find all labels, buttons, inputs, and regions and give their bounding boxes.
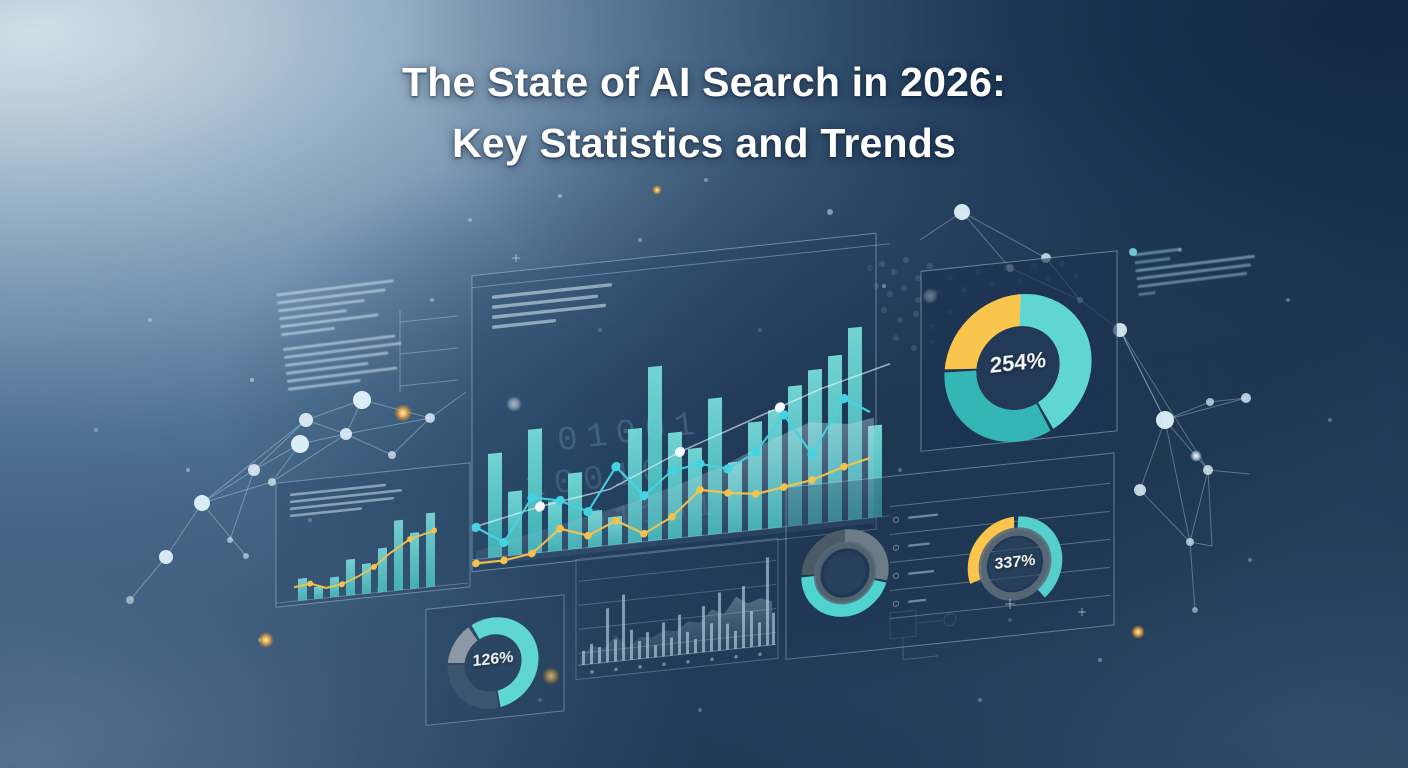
main-growth-donut[interactable]: 254%	[938, 280, 1098, 457]
poster-title: The State of AI Search in 2026: Key Stat…	[0, 52, 1408, 173]
title-line-2: Key Statistics and Trends	[0, 113, 1408, 174]
code-block-bullet-icon	[1128, 244, 1138, 310]
poster-canvas: 01001 10010 01101	[0, 0, 1408, 768]
left-text-block	[276, 279, 406, 396]
title-line-1: The State of AI Search in 2026:	[0, 52, 1408, 113]
share-donut[interactable]	[797, 520, 893, 626]
adoption-donut[interactable]: 337%	[963, 507, 1067, 622]
ctr-donut[interactable]: 126%	[443, 608, 543, 719]
